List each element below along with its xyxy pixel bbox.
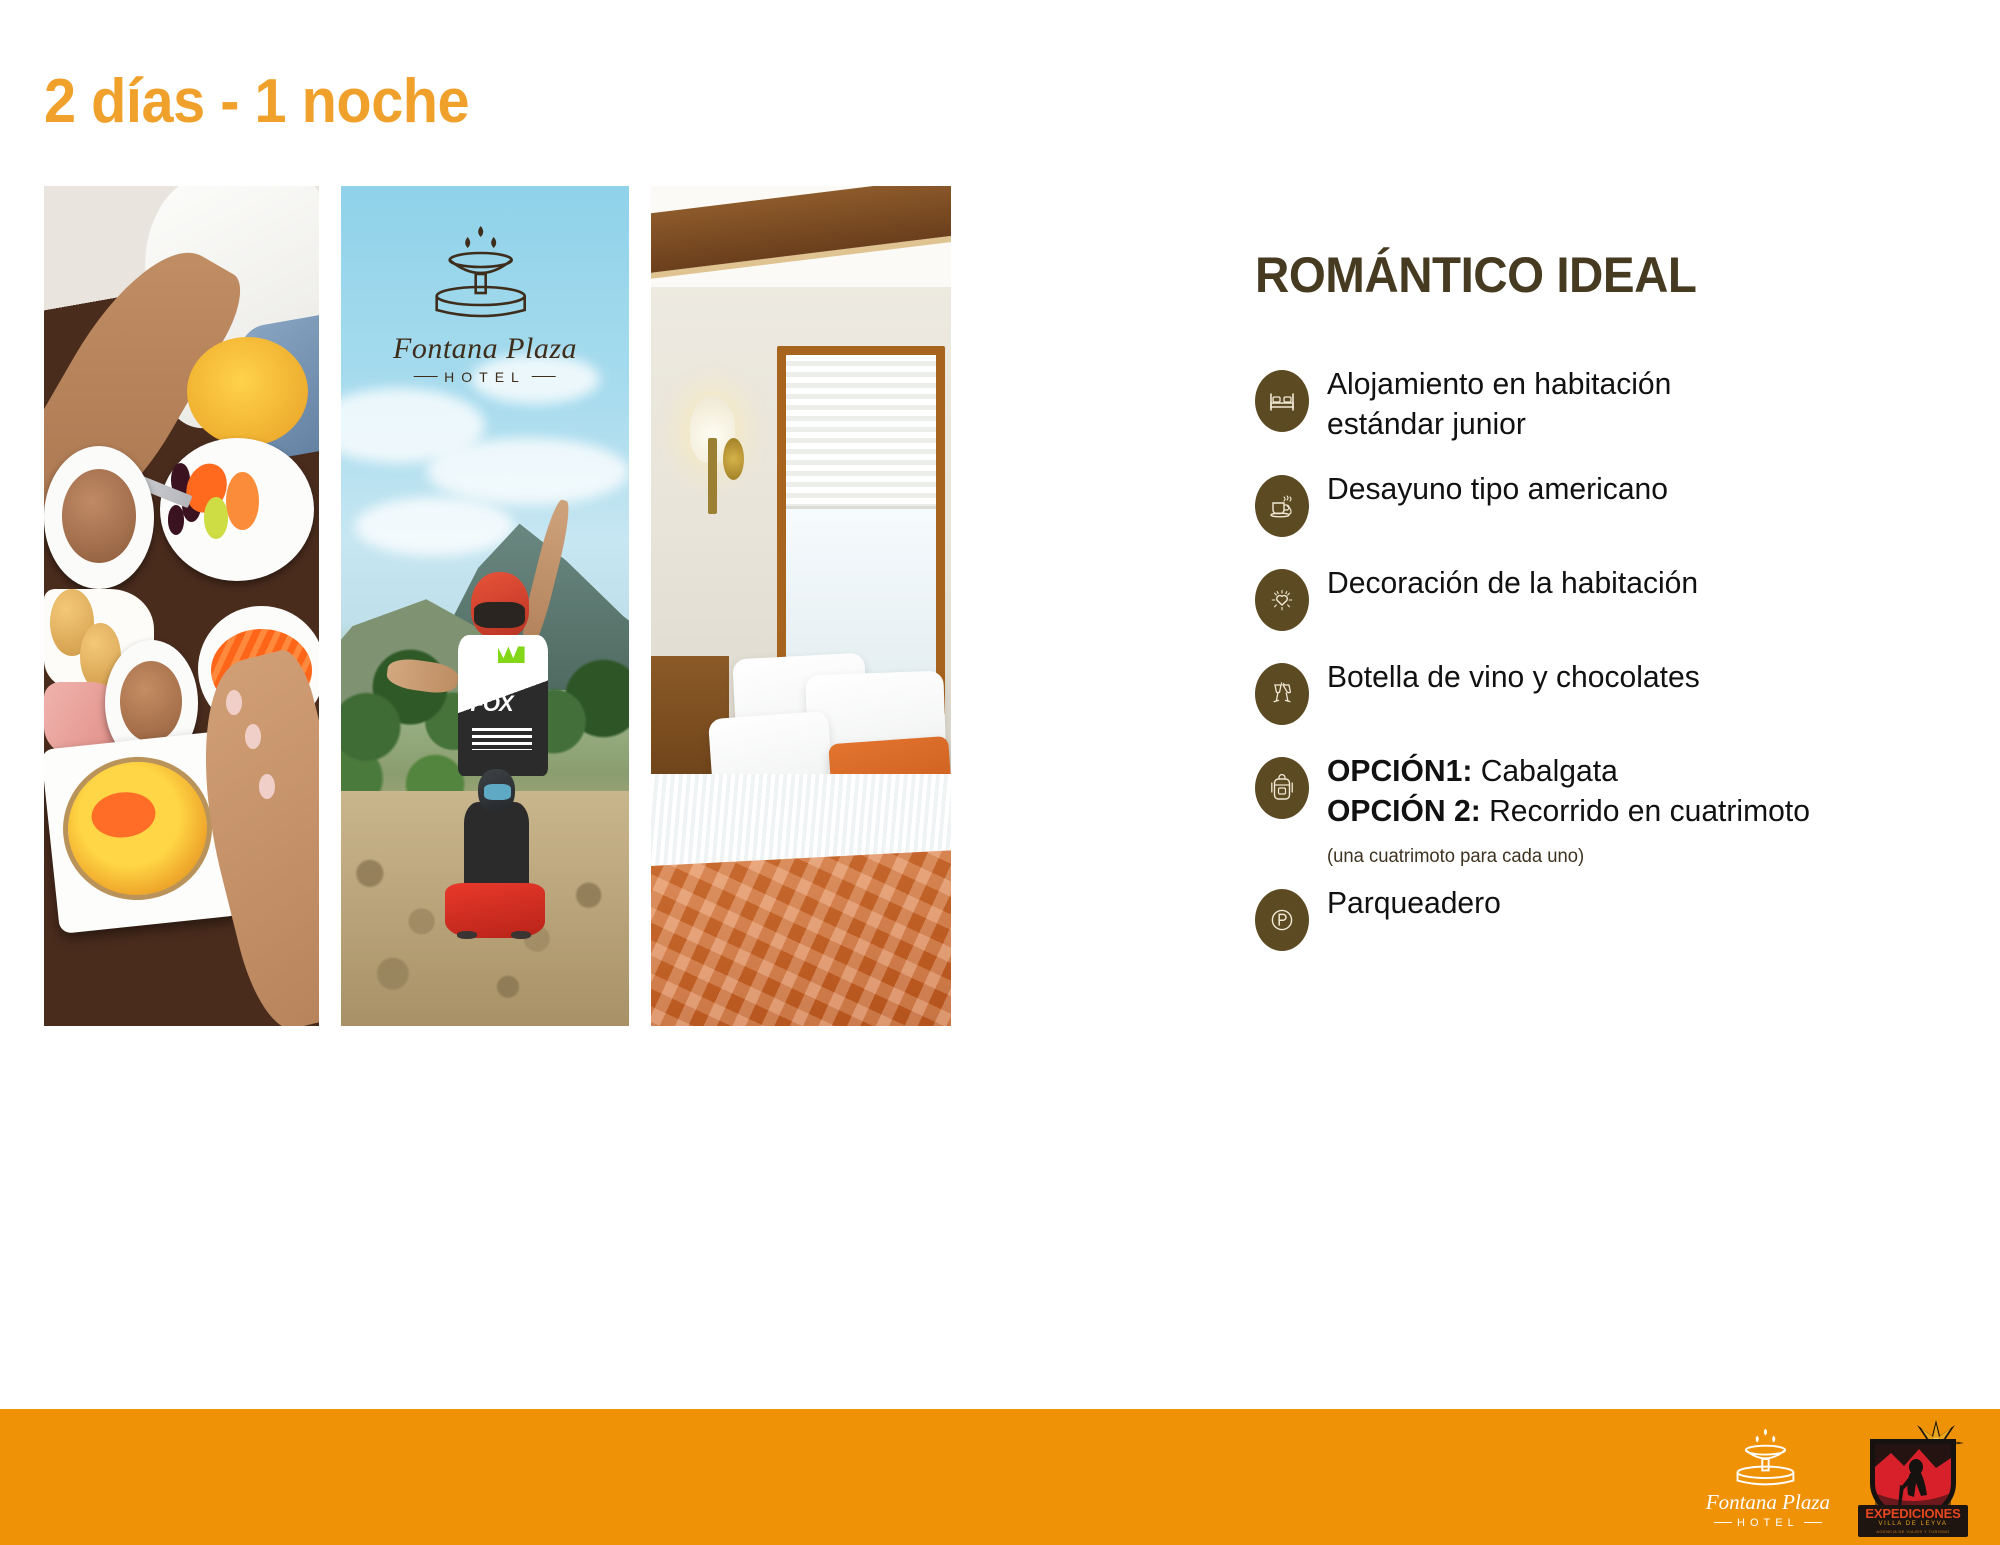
expediciones-logo: EXPEDICIONES VILLA DE LEYVA AGENCIA DE V… xyxy=(1860,1419,1966,1535)
feature-list: Alojamiento en habitación estándar junio… xyxy=(1255,360,1975,951)
slide-root: 2 días - 1 noche xyxy=(0,0,2000,1545)
feature-line: Parqueadero xyxy=(1327,883,1501,923)
package-details: ROMÁNTICO IDEAL Alojamiento en habitació… xyxy=(1255,246,1975,973)
option-2-label: OPCIÓN 2: xyxy=(1327,793,1481,828)
feature-options: OPCIÓN1: Cabalgata OPCIÓN 2: Recorrido e… xyxy=(1255,747,1975,869)
feature-lodging: Alojamiento en habitación estándar junio… xyxy=(1255,360,1975,443)
feature-line: Botella de vino y chocolates xyxy=(1327,657,1700,697)
expediciones-location: VILLA DE LEYVA xyxy=(1858,1520,1968,1528)
fingernail xyxy=(259,774,276,799)
jersey: 74 FOX xyxy=(458,635,548,775)
parking-icon xyxy=(1255,889,1309,951)
option-1-label: OPCIÓN1: xyxy=(1327,753,1472,788)
eggs-dish-top xyxy=(187,337,308,446)
heart-sparkle-icon xyxy=(1255,569,1309,631)
photo-strip: Fontana Plaza HOTEL 74 FOX xyxy=(44,186,1190,1026)
feature-parking-text: Parqueadero xyxy=(1327,879,1501,923)
watermark-brand: Fontana Plaza xyxy=(393,332,577,365)
option-1-value: Cabalgata xyxy=(1472,753,1617,788)
bed-runner xyxy=(651,849,951,1026)
quad-wheel xyxy=(511,931,531,939)
atv-photo: Fontana Plaza HOTEL 74 FOX xyxy=(341,186,629,1026)
package-title: ROMÁNTICO IDEAL xyxy=(1255,246,1939,304)
fountain-icon xyxy=(1727,1426,1809,1492)
bed-icon xyxy=(1255,370,1309,432)
coffee-cup-icon xyxy=(1255,475,1309,537)
backpack-icon xyxy=(1255,757,1309,819)
feature-wine-text: Botella de vino y chocolates xyxy=(1327,653,1700,697)
fox-logo: FOX xyxy=(470,691,512,717)
footer-hotel-brand: Fontana Plaza xyxy=(1706,1490,1830,1514)
fountain-icon xyxy=(421,220,549,332)
watermark-sub: HOTEL xyxy=(373,369,598,385)
expediciones-name: EXPEDICIONES xyxy=(1858,1507,1968,1520)
feature-decoration: Decoración de la habitación xyxy=(1255,559,1975,631)
cloud xyxy=(355,497,513,556)
bedroom-photo: Fontana Plaza xyxy=(651,186,951,1026)
jersey-number: 74 xyxy=(531,649,543,661)
sconce-plate xyxy=(723,438,744,480)
coffee-cup-top xyxy=(44,446,154,589)
quad-wheel xyxy=(457,931,477,939)
fingernail xyxy=(226,690,243,715)
feature-line: Decoración de la habitación xyxy=(1327,563,1698,603)
footer-logos: Fontana Plaza HOTEL xyxy=(1706,1409,1966,1545)
expediciones-tagline: AGENCIA DE VIAJES Y TURISMO xyxy=(1858,1529,1968,1534)
fingernail xyxy=(245,724,262,749)
expediciones-banner: EXPEDICIONES VILLA DE LEYVA AGENCIA DE V… xyxy=(1858,1505,1968,1537)
feature-line: estándar junior xyxy=(1327,404,1671,444)
breakfast-photo xyxy=(44,186,319,1026)
page-title: 2 días - 1 noche xyxy=(44,66,469,137)
monster-logo xyxy=(498,646,525,663)
feature-options-text: OPCIÓN1: Cabalgata OPCIÓN 2: Recorrido e… xyxy=(1327,747,1810,869)
child-visor xyxy=(484,784,511,799)
fontana-plaza-logo: Fontana Plaza HOTEL xyxy=(1706,1426,1830,1529)
champagne-glasses-icon xyxy=(1255,663,1309,725)
cloud xyxy=(427,438,629,505)
sconce-arm xyxy=(708,438,717,514)
papaya-slice xyxy=(226,472,259,531)
grape xyxy=(168,505,185,534)
feature-wine: Botella de vino y chocolates xyxy=(1255,653,1975,725)
footer-hotel-sub: HOTEL xyxy=(1706,1517,1830,1529)
melon-slice xyxy=(204,497,229,539)
feature-breakfast-text: Desayuno tipo americano xyxy=(1327,465,1668,509)
fontana-plaza-watermark: Fontana Plaza HOTEL xyxy=(373,220,598,385)
window-blind xyxy=(786,355,936,510)
feature-decoration-text: Decoración de la habitación xyxy=(1327,559,1698,603)
options-note: (una cuatrimoto para cada uno) xyxy=(1327,845,1810,869)
feature-line: Alojamiento en habitación xyxy=(1327,364,1671,404)
feature-breakfast: Desayuno tipo americano xyxy=(1255,465,1975,537)
jersey-stripes xyxy=(472,728,532,750)
option-1-line: OPCIÓN1: Cabalgata xyxy=(1327,751,1810,791)
atv-rider: 74 FOX xyxy=(416,572,577,942)
helmet xyxy=(471,572,529,639)
option-2-value: Recorrido en cuatrimoto xyxy=(1481,793,1810,828)
feature-parking: Parqueadero xyxy=(1255,879,1975,951)
feature-line: Desayuno tipo americano xyxy=(1327,469,1668,509)
footer-bar: Fontana Plaza HOTEL xyxy=(0,1409,2000,1545)
option-2-line: OPCIÓN 2: Recorrido en cuatrimoto xyxy=(1327,791,1810,831)
quad-bike xyxy=(445,883,545,938)
feature-lodging-text: Alojamiento en habitación estándar junio… xyxy=(1327,360,1671,443)
